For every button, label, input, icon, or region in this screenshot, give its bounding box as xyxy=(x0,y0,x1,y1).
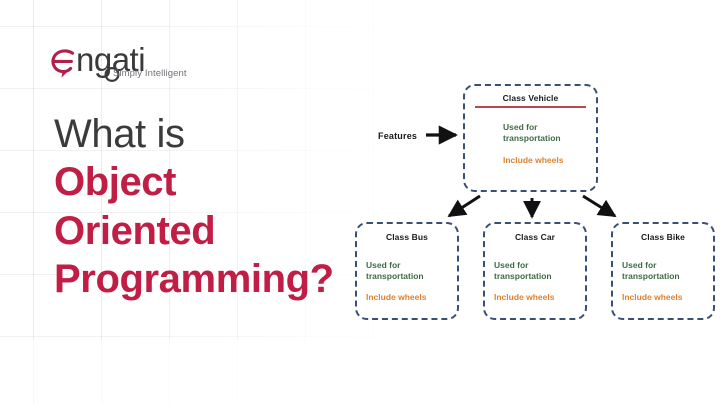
class-title-bike: Class Bike xyxy=(622,232,704,242)
class-attribute-used-for-transportation: Used for transportation xyxy=(494,260,576,282)
headline-line-4: Programming? xyxy=(54,255,354,303)
logo-e-mark xyxy=(53,51,73,78)
logo-tagline: Simply Intelligent xyxy=(113,68,187,79)
class-box-car[interactable]: Class Car Used for transportation Includ… xyxy=(483,222,587,320)
arrow-to-class-bus xyxy=(449,196,480,216)
page-title: What is Object Oriented Programming? xyxy=(54,110,354,304)
class-title-vehicle: Class Vehicle xyxy=(475,93,586,103)
slide-canvas: ngati Simply Intelligent What is Object … xyxy=(0,0,720,404)
class-attribute-include-wheels: Include wheels xyxy=(622,292,704,303)
headline-line-1: What is xyxy=(54,110,354,158)
class-attribute-used-for-transportation: Used for transportation xyxy=(622,260,704,282)
class-box-bus[interactable]: Class Bus Used for transportation Includ… xyxy=(355,222,459,320)
headline-line-2: Object xyxy=(54,158,354,206)
class-title-bus: Class Bus xyxy=(366,232,448,242)
arrow-to-class-bike xyxy=(583,196,615,216)
class-inheritance-diagram: Features Class Vehicle Used for transpor… xyxy=(350,72,720,334)
class-attribute-include-wheels: Include wheels xyxy=(475,155,586,166)
class-attribute-include-wheels: Include wheels xyxy=(494,292,576,303)
class-title-rule xyxy=(475,106,586,108)
features-label: Features xyxy=(378,131,417,141)
class-attribute-used-for-transportation: Used for transportation xyxy=(366,260,448,282)
class-box-bike[interactable]: Class Bike Used for transportation Inclu… xyxy=(611,222,715,320)
class-box-vehicle[interactable]: Class Vehicle Used for transportation In… xyxy=(463,84,598,192)
headline-line-3: Oriented xyxy=(54,207,354,255)
class-attribute-used-for-transportation: Used for transportation xyxy=(475,122,586,144)
class-title-car: Class Car xyxy=(494,232,576,242)
class-attribute-include-wheels: Include wheels xyxy=(366,292,448,303)
